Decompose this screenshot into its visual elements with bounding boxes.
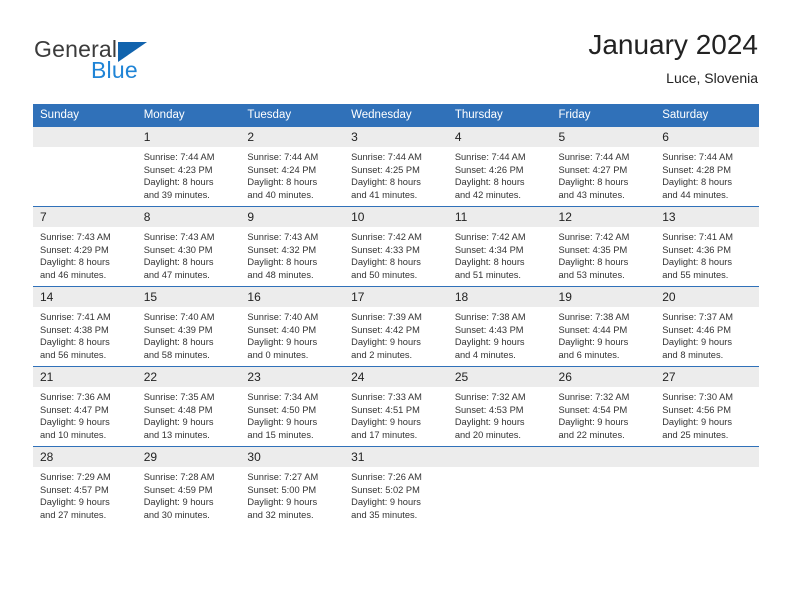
calendar-day-cell[interactable]: 4Sunrise: 7:44 AMSunset: 4:26 PMDaylight… — [448, 127, 552, 207]
daylight-text-line2: and 55 minutes. — [662, 269, 754, 282]
daylight-text-line2: and 41 minutes. — [351, 189, 443, 202]
day-number: 27 — [655, 367, 759, 387]
calendar-day-cell[interactable]: 2Sunrise: 7:44 AMSunset: 4:24 PMDaylight… — [240, 127, 344, 207]
daylight-text-line2: and 20 minutes. — [455, 429, 547, 442]
daylight-text-line2: and 39 minutes. — [144, 189, 236, 202]
day-number: 23 — [240, 367, 344, 387]
sunset-text: Sunset: 4:32 PM — [247, 244, 339, 257]
sunset-text: Sunset: 4:53 PM — [455, 404, 547, 417]
sunrise-text: Sunrise: 7:40 AM — [144, 311, 236, 324]
daylight-text-line2: and 6 minutes. — [559, 349, 651, 362]
calendar-week-row: 1Sunrise: 7:44 AMSunset: 4:23 PMDaylight… — [33, 127, 759, 207]
sunset-text: Sunset: 4:36 PM — [662, 244, 754, 257]
sunrise-text: Sunrise: 7:42 AM — [351, 231, 443, 244]
day-details: Sunrise: 7:26 AMSunset: 5:02 PMDaylight:… — [344, 467, 448, 521]
calendar-day-cell[interactable]: 20Sunrise: 7:37 AMSunset: 4:46 PMDayligh… — [655, 287, 759, 367]
calendar-day-cell-empty — [552, 447, 656, 527]
calendar-day-cell[interactable]: 18Sunrise: 7:38 AMSunset: 4:43 PMDayligh… — [448, 287, 552, 367]
sunrise-text: Sunrise: 7:34 AM — [247, 391, 339, 404]
daylight-text-line2: and 48 minutes. — [247, 269, 339, 282]
day-number: 31 — [344, 447, 448, 467]
sunrise-text: Sunrise: 7:44 AM — [351, 151, 443, 164]
sunrise-text: Sunrise: 7:42 AM — [455, 231, 547, 244]
day-details: Sunrise: 7:36 AMSunset: 4:47 PMDaylight:… — [33, 387, 137, 441]
sunset-text: Sunset: 4:46 PM — [662, 324, 754, 337]
calendar-day-cell-empty — [33, 127, 137, 207]
daylight-text-line1: Daylight: 8 hours — [559, 256, 651, 269]
daylight-text-line1: Daylight: 8 hours — [351, 176, 443, 189]
sunset-text: Sunset: 4:43 PM — [455, 324, 547, 337]
daylight-text-line2: and 0 minutes. — [247, 349, 339, 362]
day-number: 24 — [344, 367, 448, 387]
daylight-text-line1: Daylight: 8 hours — [662, 256, 754, 269]
daylight-text-line1: Daylight: 9 hours — [662, 416, 754, 429]
day-details: Sunrise: 7:40 AMSunset: 4:40 PMDaylight:… — [240, 307, 344, 361]
weekday-header-monday: Monday — [137, 104, 241, 127]
day-details: Sunrise: 7:35 AMSunset: 4:48 PMDaylight:… — [137, 387, 241, 441]
calendar-day-cell[interactable]: 25Sunrise: 7:32 AMSunset: 4:53 PMDayligh… — [448, 367, 552, 447]
page-title: January 2024 — [588, 28, 758, 62]
sunrise-text: Sunrise: 7:43 AM — [144, 231, 236, 244]
sunrise-text: Sunrise: 7:36 AM — [40, 391, 132, 404]
daylight-text-line2: and 4 minutes. — [455, 349, 547, 362]
calendar-day-cell[interactable]: 1Sunrise: 7:44 AMSunset: 4:23 PMDaylight… — [137, 127, 241, 207]
day-details: Sunrise: 7:30 AMSunset: 4:56 PMDaylight:… — [655, 387, 759, 441]
day-details: Sunrise: 7:40 AMSunset: 4:39 PMDaylight:… — [137, 307, 241, 361]
day-number: 9 — [240, 207, 344, 227]
day-number: 2 — [240, 127, 344, 147]
day-number: 28 — [33, 447, 137, 467]
calendar-day-cell[interactable]: 12Sunrise: 7:42 AMSunset: 4:35 PMDayligh… — [552, 207, 656, 287]
day-details: Sunrise: 7:32 AMSunset: 4:53 PMDaylight:… — [448, 387, 552, 441]
day-details: Sunrise: 7:41 AMSunset: 4:38 PMDaylight:… — [33, 307, 137, 361]
calendar-day-cell[interactable]: 29Sunrise: 7:28 AMSunset: 4:59 PMDayligh… — [137, 447, 241, 527]
sunrise-text: Sunrise: 7:38 AM — [559, 311, 651, 324]
daylight-text-line2: and 35 minutes. — [351, 509, 443, 522]
day-number: 29 — [137, 447, 241, 467]
day-details: Sunrise: 7:43 AMSunset: 4:32 PMDaylight:… — [240, 227, 344, 281]
day-number: 1 — [137, 127, 241, 147]
daylight-text-line2: and 25 minutes. — [662, 429, 754, 442]
day-details: Sunrise: 7:38 AMSunset: 4:43 PMDaylight:… — [448, 307, 552, 361]
day-details: Sunrise: 7:41 AMSunset: 4:36 PMDaylight:… — [655, 227, 759, 281]
day-details: Sunrise: 7:29 AMSunset: 4:57 PMDaylight:… — [33, 467, 137, 521]
sunset-text: Sunset: 4:56 PM — [662, 404, 754, 417]
sunset-text: Sunset: 5:02 PM — [351, 484, 443, 497]
day-number: 14 — [33, 287, 137, 307]
day-number — [552, 447, 656, 467]
calendar-day-cell[interactable]: 31Sunrise: 7:26 AMSunset: 5:02 PMDayligh… — [344, 447, 448, 527]
calendar-day-cell[interactable]: 17Sunrise: 7:39 AMSunset: 4:42 PMDayligh… — [344, 287, 448, 367]
calendar-week-row: 21Sunrise: 7:36 AMSunset: 4:47 PMDayligh… — [33, 367, 759, 447]
sunset-text: Sunset: 4:42 PM — [351, 324, 443, 337]
calendar-day-cell[interactable]: 28Sunrise: 7:29 AMSunset: 4:57 PMDayligh… — [33, 447, 137, 527]
daylight-text-line1: Daylight: 8 hours — [662, 176, 754, 189]
sunrise-text: Sunrise: 7:39 AM — [351, 311, 443, 324]
day-details: Sunrise: 7:39 AMSunset: 4:42 PMDaylight:… — [344, 307, 448, 361]
calendar-day-cell[interactable]: 15Sunrise: 7:40 AMSunset: 4:39 PMDayligh… — [137, 287, 241, 367]
page-subtitle: Luce, Slovenia — [588, 68, 758, 88]
weekday-header-sunday: Sunday — [33, 104, 137, 127]
day-details: Sunrise: 7:38 AMSunset: 4:44 PMDaylight:… — [552, 307, 656, 361]
calendar-day-cell[interactable]: 30Sunrise: 7:27 AMSunset: 5:00 PMDayligh… — [240, 447, 344, 527]
day-number — [655, 447, 759, 467]
day-number: 21 — [33, 367, 137, 387]
sunrise-text: Sunrise: 7:35 AM — [144, 391, 236, 404]
sunset-text: Sunset: 4:48 PM — [144, 404, 236, 417]
calendar-day-cell[interactable]: 11Sunrise: 7:42 AMSunset: 4:34 PMDayligh… — [448, 207, 552, 287]
day-details: Sunrise: 7:42 AMSunset: 4:33 PMDaylight:… — [344, 227, 448, 281]
calendar-day-cell[interactable]: 13Sunrise: 7:41 AMSunset: 4:36 PMDayligh… — [655, 207, 759, 287]
day-number — [448, 447, 552, 467]
calendar-day-cell[interactable]: 21Sunrise: 7:36 AMSunset: 4:47 PMDayligh… — [33, 367, 137, 447]
day-number: 11 — [448, 207, 552, 227]
calendar-day-cell[interactable]: 5Sunrise: 7:44 AMSunset: 4:27 PMDaylight… — [552, 127, 656, 207]
daylight-text-line2: and 27 minutes. — [40, 509, 132, 522]
daylight-text-line1: Daylight: 8 hours — [455, 176, 547, 189]
day-number: 25 — [448, 367, 552, 387]
daylight-text-line1: Daylight: 9 hours — [351, 416, 443, 429]
daylight-text-line2: and 42 minutes. — [455, 189, 547, 202]
daylight-text-line2: and 22 minutes. — [559, 429, 651, 442]
daylight-text-line2: and 44 minutes. — [662, 189, 754, 202]
sunrise-text: Sunrise: 7:44 AM — [144, 151, 236, 164]
generalblue-logo[interactable]: General Blue — [34, 36, 214, 88]
daylight-text-line1: Daylight: 9 hours — [247, 336, 339, 349]
calendar-day-cell-empty — [655, 447, 759, 527]
sunrise-text: Sunrise: 7:27 AM — [247, 471, 339, 484]
sunset-text: Sunset: 4:25 PM — [351, 164, 443, 177]
day-details: Sunrise: 7:32 AMSunset: 4:54 PMDaylight:… — [552, 387, 656, 441]
calendar-day-cell[interactable]: 8Sunrise: 7:43 AMSunset: 4:30 PMDaylight… — [137, 207, 241, 287]
sunset-text: Sunset: 4:30 PM — [144, 244, 236, 257]
sunset-text: Sunset: 4:29 PM — [40, 244, 132, 257]
sunset-text: Sunset: 4:24 PM — [247, 164, 339, 177]
sunrise-text: Sunrise: 7:32 AM — [455, 391, 547, 404]
day-details: Sunrise: 7:33 AMSunset: 4:51 PMDaylight:… — [344, 387, 448, 441]
daylight-text-line2: and 51 minutes. — [455, 269, 547, 282]
day-number: 26 — [552, 367, 656, 387]
sunrise-text: Sunrise: 7:29 AM — [40, 471, 132, 484]
calendar-day-cell[interactable]: 24Sunrise: 7:33 AMSunset: 4:51 PMDayligh… — [344, 367, 448, 447]
day-number: 18 — [448, 287, 552, 307]
day-number: 12 — [552, 207, 656, 227]
day-details: Sunrise: 7:44 AMSunset: 4:28 PMDaylight:… — [655, 147, 759, 201]
sunrise-text: Sunrise: 7:44 AM — [559, 151, 651, 164]
daylight-text-line2: and 8 minutes. — [662, 349, 754, 362]
sunrise-text: Sunrise: 7:43 AM — [40, 231, 132, 244]
calendar-day-cell[interactable]: 27Sunrise: 7:30 AMSunset: 4:56 PMDayligh… — [655, 367, 759, 447]
daylight-text-line2: and 58 minutes. — [144, 349, 236, 362]
day-number: 8 — [137, 207, 241, 227]
page-header: General Blue January 2024 Luce, Slovenia — [0, 0, 792, 100]
day-number: 5 — [552, 127, 656, 147]
day-details: Sunrise: 7:27 AMSunset: 5:00 PMDaylight:… — [240, 467, 344, 521]
daylight-text-line1: Daylight: 9 hours — [40, 496, 132, 509]
daylight-text-line1: Daylight: 9 hours — [247, 416, 339, 429]
calendar-week-row: 7Sunrise: 7:43 AMSunset: 4:29 PMDaylight… — [33, 207, 759, 287]
day-number — [33, 127, 137, 147]
calendar-grid: Sunday Monday Tuesday Wednesday Thursday… — [33, 104, 759, 526]
sunrise-text: Sunrise: 7:41 AM — [40, 311, 132, 324]
daylight-text-line1: Daylight: 8 hours — [144, 176, 236, 189]
sunset-text: Sunset: 4:44 PM — [559, 324, 651, 337]
sunset-text: Sunset: 4:35 PM — [559, 244, 651, 257]
sunrise-text: Sunrise: 7:41 AM — [662, 231, 754, 244]
sunset-text: Sunset: 4:33 PM — [351, 244, 443, 257]
daylight-text-line2: and 56 minutes. — [40, 349, 132, 362]
daylight-text-line2: and 15 minutes. — [247, 429, 339, 442]
day-number: 17 — [344, 287, 448, 307]
day-details: Sunrise: 7:43 AMSunset: 4:30 PMDaylight:… — [137, 227, 241, 281]
day-details: Sunrise: 7:44 AMSunset: 4:27 PMDaylight:… — [552, 147, 656, 201]
sunset-text: Sunset: 4:51 PM — [351, 404, 443, 417]
daylight-text-line2: and 13 minutes. — [144, 429, 236, 442]
daylight-text-line1: Daylight: 8 hours — [455, 256, 547, 269]
daylight-text-line1: Daylight: 8 hours — [144, 336, 236, 349]
day-details: Sunrise: 7:42 AMSunset: 4:35 PMDaylight:… — [552, 227, 656, 281]
daylight-text-line1: Daylight: 9 hours — [662, 336, 754, 349]
calendar-day-cell[interactable]: 6Sunrise: 7:44 AMSunset: 4:28 PMDaylight… — [655, 127, 759, 207]
daylight-text-line1: Daylight: 8 hours — [559, 176, 651, 189]
day-number: 4 — [448, 127, 552, 147]
daylight-text-line1: Daylight: 9 hours — [559, 416, 651, 429]
sunrise-text: Sunrise: 7:33 AM — [351, 391, 443, 404]
day-number: 6 — [655, 127, 759, 147]
calendar-day-cell[interactable]: 3Sunrise: 7:44 AMSunset: 4:25 PMDaylight… — [344, 127, 448, 207]
calendar-week-row: 28Sunrise: 7:29 AMSunset: 4:57 PMDayligh… — [33, 447, 759, 527]
daylight-text-line1: Daylight: 9 hours — [351, 496, 443, 509]
day-details: Sunrise: 7:43 AMSunset: 4:29 PMDaylight:… — [33, 227, 137, 281]
day-number: 13 — [655, 207, 759, 227]
calendar-day-cell[interactable]: 19Sunrise: 7:38 AMSunset: 4:44 PMDayligh… — [552, 287, 656, 367]
weekday-header-row: Sunday Monday Tuesday Wednesday Thursday… — [33, 104, 759, 127]
day-number: 15 — [137, 287, 241, 307]
sunrise-text: Sunrise: 7:42 AM — [559, 231, 651, 244]
sunset-text: Sunset: 4:38 PM — [40, 324, 132, 337]
calendar-page: General Blue January 2024 Luce, Slovenia… — [0, 0, 792, 612]
daylight-text-line2: and 47 minutes. — [144, 269, 236, 282]
sunset-text: Sunset: 4:57 PM — [40, 484, 132, 497]
calendar-day-cell[interactable]: 23Sunrise: 7:34 AMSunset: 4:50 PMDayligh… — [240, 367, 344, 447]
weekday-header-friday: Friday — [552, 104, 656, 127]
sunset-text: Sunset: 4:47 PM — [40, 404, 132, 417]
weekday-header-tuesday: Tuesday — [240, 104, 344, 127]
sunset-text: Sunset: 4:54 PM — [559, 404, 651, 417]
weekday-header-saturday: Saturday — [655, 104, 759, 127]
weekday-header-thursday: Thursday — [448, 104, 552, 127]
day-details: Sunrise: 7:37 AMSunset: 4:46 PMDaylight:… — [655, 307, 759, 361]
day-number: 10 — [344, 207, 448, 227]
sunrise-text: Sunrise: 7:38 AM — [455, 311, 547, 324]
sunset-text: Sunset: 4:50 PM — [247, 404, 339, 417]
daylight-text-line1: Daylight: 9 hours — [144, 416, 236, 429]
sunrise-text: Sunrise: 7:28 AM — [144, 471, 236, 484]
calendar-day-cell[interactable]: 22Sunrise: 7:35 AMSunset: 4:48 PMDayligh… — [137, 367, 241, 447]
calendar-day-cell[interactable]: 9Sunrise: 7:43 AMSunset: 4:32 PMDaylight… — [240, 207, 344, 287]
daylight-text-line2: and 2 minutes. — [351, 349, 443, 362]
daylight-text-line1: Daylight: 9 hours — [247, 496, 339, 509]
calendar-day-cell-empty — [448, 447, 552, 527]
daylight-text-line2: and 50 minutes. — [351, 269, 443, 282]
day-details: Sunrise: 7:34 AMSunset: 4:50 PMDaylight:… — [240, 387, 344, 441]
day-details: Sunrise: 7:44 AMSunset: 4:26 PMDaylight:… — [448, 147, 552, 201]
daylight-text-line1: Daylight: 9 hours — [351, 336, 443, 349]
daylight-text-line1: Daylight: 8 hours — [351, 256, 443, 269]
day-number: 20 — [655, 287, 759, 307]
sunset-text: Sunset: 4:59 PM — [144, 484, 236, 497]
sunset-text: Sunset: 4:34 PM — [455, 244, 547, 257]
calendar-day-cell[interactable]: 10Sunrise: 7:42 AMSunset: 4:33 PMDayligh… — [344, 207, 448, 287]
sunset-text: Sunset: 5:00 PM — [247, 484, 339, 497]
sunset-text: Sunset: 4:27 PM — [559, 164, 651, 177]
sunrise-text: Sunrise: 7:44 AM — [247, 151, 339, 164]
sunrise-text: Sunrise: 7:40 AM — [247, 311, 339, 324]
day-number: 19 — [552, 287, 656, 307]
logo-text-blue: Blue — [91, 57, 138, 84]
daylight-text-line2: and 53 minutes. — [559, 269, 651, 282]
sunrise-text: Sunrise: 7:43 AM — [247, 231, 339, 244]
sunrise-text: Sunrise: 7:30 AM — [662, 391, 754, 404]
sunrise-text: Sunrise: 7:37 AM — [662, 311, 754, 324]
calendar-day-cell[interactable]: 14Sunrise: 7:41 AMSunset: 4:38 PMDayligh… — [33, 287, 137, 367]
sunset-text: Sunset: 4:39 PM — [144, 324, 236, 337]
daylight-text-line1: Daylight: 9 hours — [40, 416, 132, 429]
sunrise-text: Sunrise: 7:32 AM — [559, 391, 651, 404]
calendar-body: 1Sunrise: 7:44 AMSunset: 4:23 PMDaylight… — [33, 127, 759, 527]
daylight-text-line2: and 32 minutes. — [247, 509, 339, 522]
weekday-header-wednesday: Wednesday — [344, 104, 448, 127]
daylight-text-line2: and 40 minutes. — [247, 189, 339, 202]
day-details: Sunrise: 7:42 AMSunset: 4:34 PMDaylight:… — [448, 227, 552, 281]
daylight-text-line2: and 46 minutes. — [40, 269, 132, 282]
sunset-text: Sunset: 4:23 PM — [144, 164, 236, 177]
sunset-text: Sunset: 4:40 PM — [247, 324, 339, 337]
daylight-text-line2: and 30 minutes. — [144, 509, 236, 522]
daylight-text-line1: Daylight: 8 hours — [247, 176, 339, 189]
day-number: 7 — [33, 207, 137, 227]
daylight-text-line1: Daylight: 9 hours — [144, 496, 236, 509]
title-block: January 2024 Luce, Slovenia — [588, 28, 758, 88]
daylight-text-line1: Daylight: 8 hours — [40, 336, 132, 349]
sunrise-text: Sunrise: 7:26 AM — [351, 471, 443, 484]
daylight-text-line2: and 17 minutes. — [351, 429, 443, 442]
daylight-text-line1: Daylight: 8 hours — [40, 256, 132, 269]
calendar-day-cell[interactable]: 16Sunrise: 7:40 AMSunset: 4:40 PMDayligh… — [240, 287, 344, 367]
day-number: 30 — [240, 447, 344, 467]
day-details: Sunrise: 7:28 AMSunset: 4:59 PMDaylight:… — [137, 467, 241, 521]
day-number: 22 — [137, 367, 241, 387]
daylight-text-line2: and 10 minutes. — [40, 429, 132, 442]
daylight-text-line1: Daylight: 9 hours — [455, 416, 547, 429]
day-number: 3 — [344, 127, 448, 147]
day-details: Sunrise: 7:44 AMSunset: 4:25 PMDaylight:… — [344, 147, 448, 201]
daylight-text-line1: Daylight: 9 hours — [455, 336, 547, 349]
sunset-text: Sunset: 4:26 PM — [455, 164, 547, 177]
daylight-text-line1: Daylight: 8 hours — [144, 256, 236, 269]
calendar-day-cell[interactable]: 7Sunrise: 7:43 AMSunset: 4:29 PMDaylight… — [33, 207, 137, 287]
sunrise-text: Sunrise: 7:44 AM — [455, 151, 547, 164]
day-number: 16 — [240, 287, 344, 307]
day-details: Sunrise: 7:44 AMSunset: 4:24 PMDaylight:… — [240, 147, 344, 201]
day-details: Sunrise: 7:44 AMSunset: 4:23 PMDaylight:… — [137, 147, 241, 201]
calendar-week-row: 14Sunrise: 7:41 AMSunset: 4:38 PMDayligh… — [33, 287, 759, 367]
sunset-text: Sunset: 4:28 PM — [662, 164, 754, 177]
daylight-text-line1: Daylight: 8 hours — [247, 256, 339, 269]
calendar-day-cell[interactable]: 26Sunrise: 7:32 AMSunset: 4:54 PMDayligh… — [552, 367, 656, 447]
sunrise-text: Sunrise: 7:44 AM — [662, 151, 754, 164]
daylight-text-line1: Daylight: 9 hours — [559, 336, 651, 349]
daylight-text-line2: and 43 minutes. — [559, 189, 651, 202]
